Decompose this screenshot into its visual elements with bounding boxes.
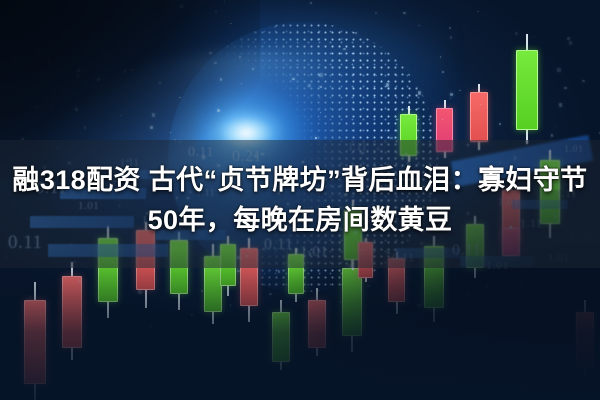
vignette-bottom (0, 250, 600, 400)
headline-line-1: 融318配资 古代“贞节牌坊”背后血泪：寡妇守节 (8, 160, 592, 200)
headline-line-2: 50年，每晚在房间数黄豆 (8, 200, 592, 240)
article-cover-image: 0.110.111.011.011.111.110.110.210.111.01… (0, 0, 600, 400)
headline: 融318配资 古代“贞节牌坊”背后血泪：寡妇守节 50年，每晚在房间数黄豆 (0, 160, 600, 240)
